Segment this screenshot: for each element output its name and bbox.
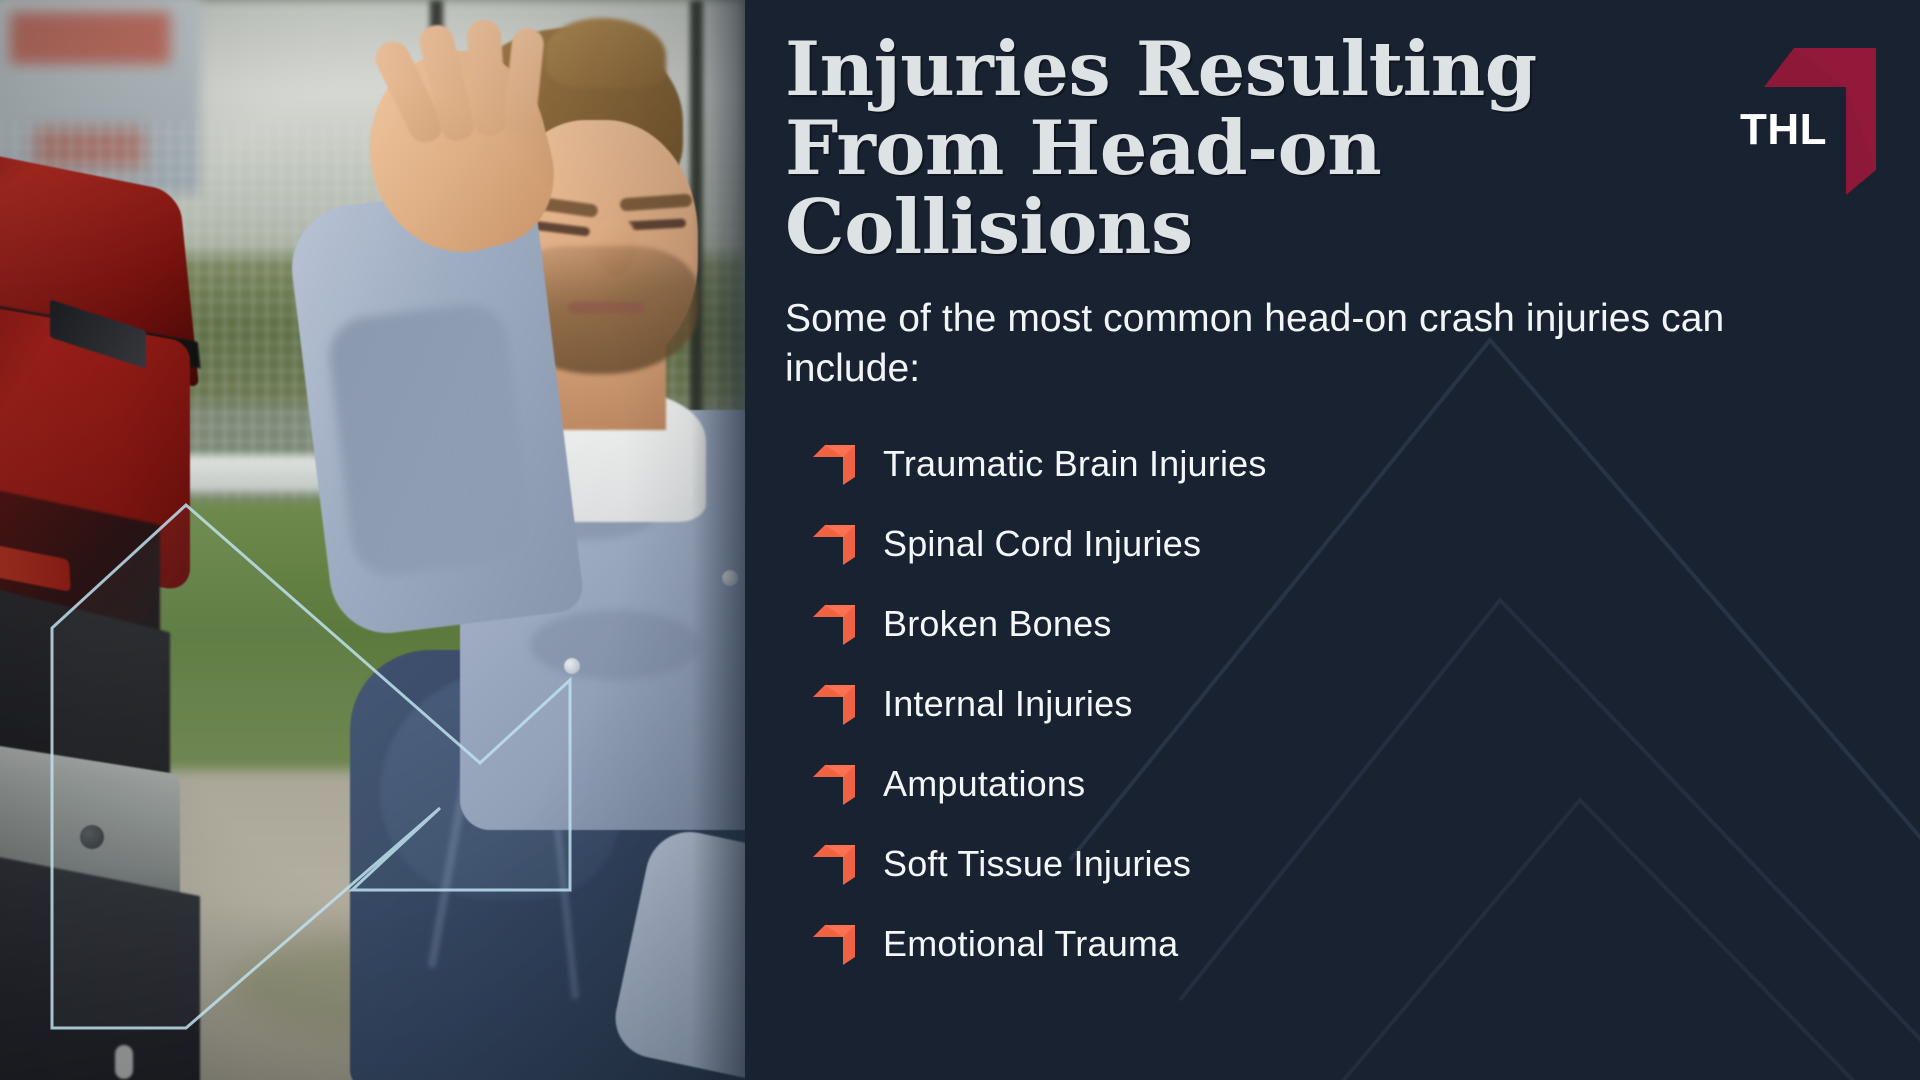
injury-item-6: Emotional Trauma bbox=[811, 904, 1860, 984]
photo-right-fade bbox=[691, 0, 745, 1080]
list-item-label: Broken Bones bbox=[883, 606, 1112, 642]
photo-stage bbox=[0, 0, 745, 1080]
injury-item-1: Spinal Cord Injuries bbox=[811, 504, 1860, 584]
list-item-label: Soft Tissue Injuries bbox=[883, 846, 1191, 882]
arrow-bullet-icon bbox=[811, 843, 857, 885]
list-item-label: Emotional Trauma bbox=[883, 926, 1178, 962]
injury-item-4: Amputations bbox=[811, 744, 1860, 824]
injury-item-2: Broken Bones bbox=[811, 584, 1860, 664]
list-item-label: Spinal Cord Injuries bbox=[883, 526, 1201, 562]
arrow-bullet-icon bbox=[811, 523, 857, 565]
list-item-label: Amputations bbox=[883, 766, 1085, 802]
arrow-bullet-icon bbox=[811, 443, 857, 485]
injury-item-3: Internal Injuries bbox=[811, 664, 1860, 744]
content-panel: THL Injuries Resulting From Head-on Coll… bbox=[745, 0, 1920, 1080]
page-title: Injuries Resulting From Head-on Collisio… bbox=[785, 30, 1685, 266]
thl-logo-text: THL bbox=[1740, 108, 1827, 152]
injury-item-0: Traumatic Brain Injuries bbox=[811, 424, 1860, 504]
injury-item-5: Soft Tissue Injuries bbox=[811, 824, 1860, 904]
injury-list: Traumatic Brain Injuries Spinal Cord Inj… bbox=[785, 424, 1860, 984]
arrow-bullet-icon bbox=[811, 603, 857, 645]
page-subtitle: Some of the most common head-on crash in… bbox=[785, 294, 1745, 394]
list-item-label: Traumatic Brain Injuries bbox=[883, 446, 1267, 482]
crash-photo bbox=[0, 0, 745, 1080]
arrow-bullet-icon bbox=[811, 763, 857, 805]
infographic-root: THL Injuries Resulting From Head-on Coll… bbox=[0, 0, 1920, 1080]
thl-logo[interactable]: THL bbox=[1734, 30, 1876, 195]
photo-vignette bbox=[0, 0, 745, 1080]
arrow-bullet-icon bbox=[811, 683, 857, 725]
list-item-label: Internal Injuries bbox=[883, 686, 1133, 722]
arrow-bullet-icon bbox=[811, 923, 857, 965]
